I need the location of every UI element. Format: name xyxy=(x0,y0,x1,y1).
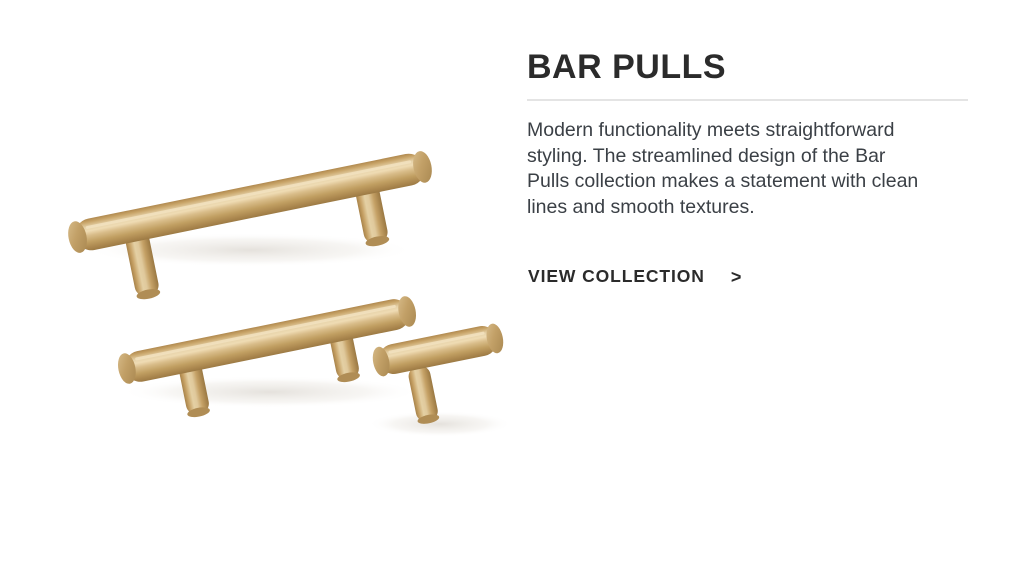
bar-pulls-illustration xyxy=(0,0,510,568)
collection-copy-panel: BAR PULLS Modern functionality meets str… xyxy=(527,0,987,568)
shadow-medium xyxy=(120,376,420,408)
medium-pull-bar xyxy=(122,296,412,384)
shadow-small xyxy=(368,411,510,437)
page-title: BAR PULLS xyxy=(527,50,726,86)
view-collection-link[interactable]: VIEW COLLECTION > xyxy=(528,266,741,287)
product-image xyxy=(0,0,510,568)
large-bar-pull xyxy=(66,149,435,301)
collection-description: Modern functionality meets straightforwa… xyxy=(527,118,927,220)
view-collection-label: VIEW COLLECTION xyxy=(528,266,705,287)
chevron-right-icon: > xyxy=(731,268,742,286)
title-divider xyxy=(527,99,968,101)
small-bar-knob xyxy=(370,322,505,425)
page-root: BAR PULLS Modern functionality meets str… xyxy=(0,0,1024,568)
